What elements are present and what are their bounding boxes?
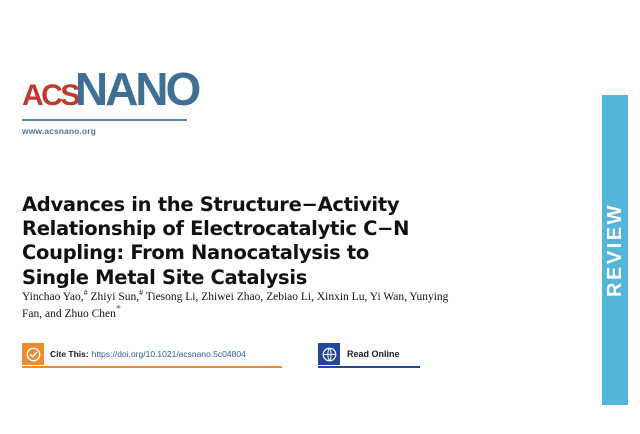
author-name: Zhiyi Sun, (88, 291, 139, 303)
read-online-underline (318, 366, 420, 368)
journal-logo-acs: ACS (22, 79, 78, 112)
journal-masthead: ACSNANO www.acsnano.org (22, 68, 322, 136)
journal-logo-nano: NANO (75, 63, 198, 115)
review-banner: REVIEW (602, 95, 628, 405)
cite-this-text: Cite This: https://doi.org/10.1021/acsna… (44, 343, 246, 365)
cite-this-label: Cite This: (50, 349, 89, 359)
author-name-last: and Zhuo Chen (45, 308, 116, 320)
article-action-bar: Cite This: https://doi.org/10.1021/acsna… (22, 343, 582, 373)
corresponding-author-mark: * (116, 304, 121, 315)
cite-doi-link[interactable]: https://doi.org/10.1021/acsnano.5c04804 (92, 349, 246, 359)
author-list: Yinchao Yao,# Zhiyi Sun,# Tiesong Li, Zh… (22, 289, 452, 322)
read-online-button[interactable]: Read Online (318, 343, 400, 365)
review-banner-label: REVIEW (605, 203, 625, 297)
cite-this-button[interactable]: Cite This: https://doi.org/10.1021/acsna… (22, 343, 246, 365)
read-online-label: Read Online (340, 343, 400, 365)
author-name: Yinchao Yao, (22, 291, 84, 303)
article-title: Advances in the Structure−Activity Relat… (22, 193, 442, 290)
journal-logo[interactable]: ACSNANO (22, 68, 322, 110)
cite-this-underline (22, 366, 282, 368)
masthead-divider (22, 119, 187, 121)
article-page: REVIEW ACSNANO www.acsnano.org Advances … (0, 0, 640, 434)
journal-url[interactable]: www.acsnano.org (22, 126, 322, 136)
globe-icon (318, 343, 340, 365)
check-circle-icon (22, 343, 44, 365)
